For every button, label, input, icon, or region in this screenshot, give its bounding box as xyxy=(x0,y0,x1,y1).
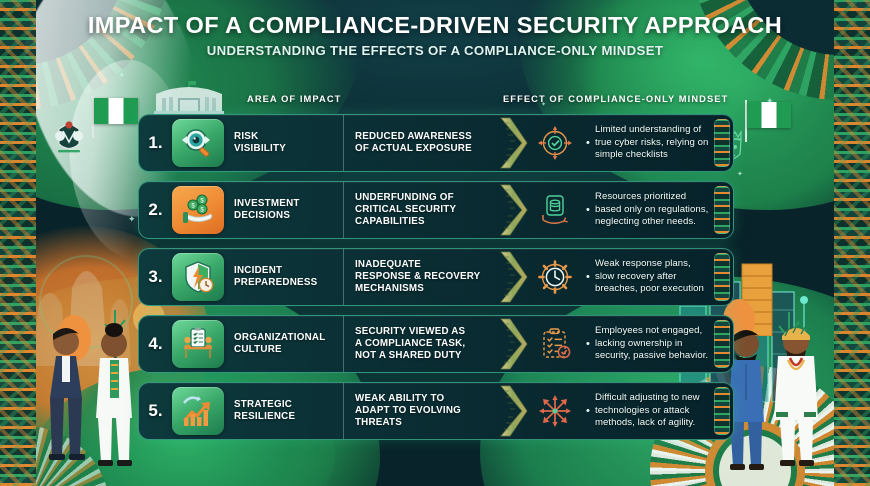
poster-header: IMPACT OF A COMPLIANCE-DRIVEN SECURITY A… xyxy=(0,12,870,58)
bullet-icon: • xyxy=(586,204,595,216)
detail-text: Weak response plans, slow recovery after… xyxy=(595,258,710,296)
area-of-impact-cell: INCIDENTPREPAREDNESS xyxy=(224,249,344,305)
hand-with-coins-icon: $$$ xyxy=(172,186,224,234)
bullet-icon: • xyxy=(586,271,595,283)
area-of-impact-label: INCIDENTPREPAREDNESS xyxy=(234,265,317,289)
row-edge-pattern xyxy=(714,119,730,167)
chevron-right-icon xyxy=(496,316,530,372)
page-subtitle: UNDERSTANDING THE EFFECTS OF A COMPLIANC… xyxy=(0,43,870,58)
person-woman-in-white-attire xyxy=(86,322,142,468)
area-of-impact-cell: INVESTMENTDECISIONS xyxy=(224,182,344,238)
row-edge-pattern xyxy=(714,253,730,301)
table-row[interactable]: 1.RISKVISIBILITYREDUCED AWARENESSOF ACTU… xyxy=(138,114,734,172)
shield-clock-icon xyxy=(172,253,224,301)
sparkle-icon: ✦ xyxy=(128,214,136,225)
row-number: 1. xyxy=(139,115,172,171)
chevron-right-icon xyxy=(496,115,530,171)
area-of-impact-label: RISKVISIBILITY xyxy=(234,131,286,155)
infographic-poster: ✦ ✦ ✦ ✦ ✦ xyxy=(0,0,870,486)
impact-rows-list: 1.RISKVISIBILITYREDUCED AWARENESSOF ACTU… xyxy=(138,114,734,449)
african-tribal-border-right xyxy=(834,0,870,486)
table-row[interactable]: 5.STRATEGICRESILIENCEWEAK ABILITY TOADAP… xyxy=(138,382,734,440)
nigeria-coat-of-arms-icon xyxy=(52,120,86,160)
page-title: IMPACT OF A COMPLIANCE-DRIVEN SECURITY A… xyxy=(0,12,870,39)
table-row[interactable]: 3.INCIDENTPREPAREDNESSINADEQUATERESPONSE… xyxy=(138,248,734,306)
detail-text: Resources prioritized based only on regu… xyxy=(595,191,710,229)
table-row[interactable]: 2.$$$INVESTMENTDECISIONSUNDERFUNDING OFC… xyxy=(138,181,734,239)
effect-cell: WEAK ABILITY TOADAPT TO EVOLVINGTHREATS xyxy=(344,383,496,439)
person-man-in-white-agbada xyxy=(766,316,826,468)
row-edge-pattern xyxy=(714,186,730,234)
checklist-clipboard-icon xyxy=(530,316,580,372)
detail-text: Employees not engaged, lacking ownership… xyxy=(595,325,710,363)
growth-chart-arrow-icon xyxy=(172,387,224,435)
table-row[interactable]: 4.ORGANIZATIONALCULTURESECURITY VIEWED A… xyxy=(138,315,734,373)
effect-label: WEAK ABILITY TOADAPT TO EVOLVINGTHREATS xyxy=(355,393,461,429)
african-tribal-border-left xyxy=(0,0,36,486)
row-number: 3. xyxy=(139,249,172,305)
row-edge-pattern xyxy=(714,387,730,435)
row-edge-pattern xyxy=(714,320,730,368)
effect-cell: INADEQUATERESPONSE & RECOVERYMECHANISMS xyxy=(344,249,496,305)
effect-cell: REDUCED AWARENESSOF ACTUAL EXPOSURE xyxy=(344,115,496,171)
detail-cell: •Resources prioritized based only on reg… xyxy=(580,182,714,238)
detail-cell: •Employees not engaged, lacking ownershi… xyxy=(580,316,714,372)
effect-label: REDUCED AWARENESSOF ACTUAL EXPOSURE xyxy=(355,131,472,155)
bullet-icon: • xyxy=(586,338,595,350)
area-of-impact-label: ORGANIZATIONALCULTURE xyxy=(234,332,325,356)
detail-cell: •Limited understanding of true cyber ris… xyxy=(580,115,714,171)
sparkle-icon: ✦ xyxy=(737,170,743,178)
effect-cell: UNDERFUNDING OFCRITICAL SECURITYCAPABILI… xyxy=(344,182,496,238)
bullet-icon: • xyxy=(586,137,595,149)
effect-cell: SECURITY VIEWED ASA COMPLIANCE TASK,NOT … xyxy=(344,316,496,372)
detail-text: Difficult adjusting to new technologies … xyxy=(595,392,710,430)
magnifying-glass-eye-icon xyxy=(172,119,224,167)
row-number: 5. xyxy=(139,383,172,439)
chevron-right-icon xyxy=(496,182,530,238)
bullet-icon: • xyxy=(586,405,595,417)
team-meeting-clipboard-icon xyxy=(172,320,224,368)
target-check-icon xyxy=(530,115,580,171)
column-header-effect: EFFECT OF COMPLIANCE-ONLY MINDSET xyxy=(503,94,728,104)
area-of-impact-label: INVESTMENTDECISIONS xyxy=(234,198,300,222)
area-of-impact-cell: STRATEGICRESILIENCE xyxy=(224,383,344,439)
area-of-impact-label: STRATEGICRESILIENCE xyxy=(234,399,295,423)
row-number: 4. xyxy=(139,316,172,372)
multi-direction-arrows-icon xyxy=(530,383,580,439)
chevron-right-icon xyxy=(496,249,530,305)
detail-cell: •Difficult adjusting to new technologies… xyxy=(580,383,714,439)
column-headers: AREA OF IMPACT EFFECT OF COMPLIANCE-ONLY… xyxy=(0,94,870,110)
detail-cell: •Weak response plans, slow recovery afte… xyxy=(580,249,714,305)
sparkle-icon: ✦ xyxy=(118,70,126,81)
chevron-right-icon xyxy=(496,383,530,439)
area-of-impact-cell: ORGANIZATIONALCULTURE xyxy=(224,316,344,372)
hand-money-document-icon xyxy=(530,182,580,238)
effect-label: UNDERFUNDING OFCRITICAL SECURITYCAPABILI… xyxy=(355,192,456,228)
column-header-area-of-impact: AREA OF IMPACT xyxy=(247,94,341,104)
detail-text: Limited understanding of true cyber risk… xyxy=(595,124,710,162)
effect-label: INADEQUATERESPONSE & RECOVERYMECHANISMS xyxy=(355,259,480,295)
row-number: 2. xyxy=(139,182,172,238)
area-of-impact-cell: RISKVISIBILITY xyxy=(224,115,344,171)
gear-clock-icon xyxy=(530,249,580,305)
effect-label: SECURITY VIEWED ASA COMPLIANCE TASK,NOT … xyxy=(355,326,465,362)
